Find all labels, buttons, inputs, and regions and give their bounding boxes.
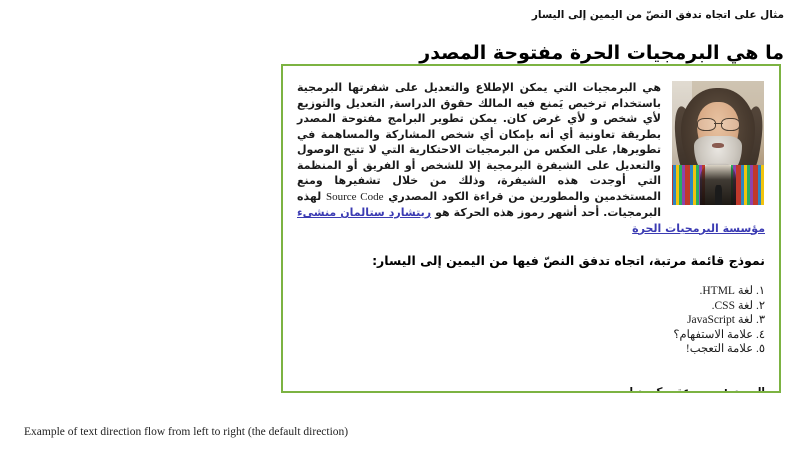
list-item: ٤. علامة الاستفهام؟	[297, 328, 765, 343]
glasses-bridge	[714, 123, 723, 124]
source-attribution: المصدر: موسوعة ويكيبيديا	[297, 385, 765, 394]
mouth	[712, 143, 724, 148]
list-item-label: لغة HTML.	[700, 285, 754, 297]
list-item: ٣. لغة JavaScript	[297, 313, 765, 328]
list-section-heading: نموذج قائمة مرتبة، اتجاه تدفق النصّ فيها…	[297, 252, 765, 270]
footer-caption: Example of text direction flow from left…	[24, 425, 348, 439]
page-title: ما هي البرمجيات الحرة مفتوحة المصدر	[0, 35, 800, 65]
ordered-list: ١. لغة HTML. ٢. لغة CSS. ٣. لغة JavaScri…	[297, 284, 765, 357]
list-item-label: علامة التعجب!	[686, 343, 753, 355]
list-item-label: لغة CSS.	[712, 300, 753, 312]
portrait-photo	[671, 80, 765, 206]
list-item-marker: ٢.	[756, 300, 765, 312]
list-item-marker: ١.	[756, 285, 765, 297]
paragraph-text-part1: هي البرمجيات التي يمكن الإطلاع والتعديل …	[297, 81, 661, 203]
glasses-lens-right	[721, 118, 740, 131]
list-item-marker: ٥.	[756, 343, 765, 355]
page-root: { "page": { "lang": "ar", "intro_line": …	[0, 0, 800, 450]
source-code-term: Source Code	[326, 191, 383, 203]
rtl-intro-line: مثال على اتجاه تدفق النصّ من اليمين إلى …	[0, 0, 800, 22]
list-item-label: علامة الاستفهام؟	[673, 329, 753, 341]
microphone-icon	[715, 185, 721, 205]
list-item-marker: ٣.	[756, 314, 765, 326]
glasses-lens-left	[697, 118, 716, 131]
list-item: ٢. لغة CSS.	[297, 299, 765, 314]
list-item: ١. لغة HTML.	[297, 284, 765, 299]
article-inner: هي البرمجيات التي يمكن الإطلاع والتعديل …	[283, 66, 779, 391]
list-item: ٥. علامة التعجب!	[297, 342, 765, 357]
list-item-marker: ٤.	[756, 329, 765, 341]
article-container: هي البرمجيات التي يمكن الإطلاع والتعديل …	[281, 64, 781, 393]
list-item-label: لغة JavaScript	[687, 314, 753, 326]
glasses-icon	[697, 118, 740, 129]
